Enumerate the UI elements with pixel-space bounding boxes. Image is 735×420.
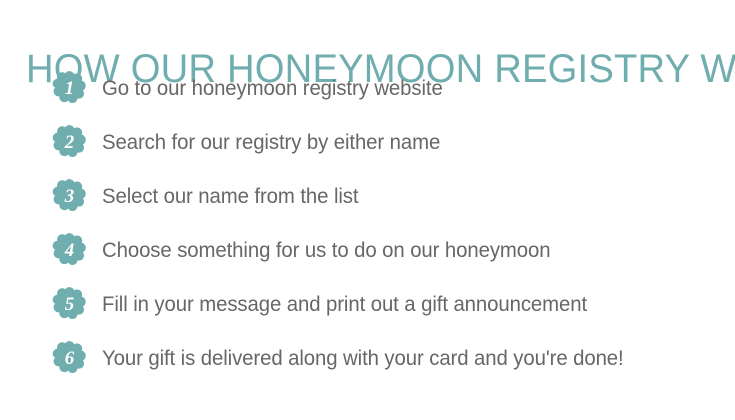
list-item: 2 Search for our registry by either name: [0, 116, 735, 170]
step-number: 1: [50, 70, 88, 108]
scalloped-flower-badge-icon: 3: [50, 178, 88, 216]
scalloped-flower-badge-icon: 6: [50, 340, 88, 378]
step-number: 3: [50, 178, 88, 216]
step-text: Go to our honeymoon registry website: [102, 76, 443, 102]
step-number: 5: [50, 286, 88, 324]
step-text: Fill in your message and print out a gif…: [102, 292, 587, 318]
step-text: Choose something for us to do on our hon…: [102, 238, 551, 264]
list-item: 1 Go to our honeymoon registry website: [0, 62, 735, 116]
step-text: Your gift is delivered along with your c…: [102, 346, 624, 372]
list-item: 4 Choose something for us to do on our h…: [0, 224, 735, 278]
step-number: 6: [50, 340, 88, 378]
step-text: Search for our registry by either name: [102, 130, 440, 156]
scalloped-flower-badge-icon: 5: [50, 286, 88, 324]
scalloped-flower-badge-icon: 1: [50, 70, 88, 108]
scalloped-flower-badge-icon: 2: [50, 124, 88, 162]
honeymoon-registry-infographic: HOW OUR HONEYMOON REGISTRY WORKS 1 Go to…: [0, 0, 735, 420]
list-item: 3 Select our name from the list: [0, 170, 735, 224]
step-number: 4: [50, 232, 88, 270]
list-item: 6 Your gift is delivered along with your…: [0, 332, 735, 386]
scalloped-flower-badge-icon: 4: [50, 232, 88, 270]
step-text: Select our name from the list: [102, 184, 358, 210]
list-item: 5 Fill in your message and print out a g…: [0, 278, 735, 332]
steps-list: 1 Go to our honeymoon registry website 2…: [0, 62, 735, 386]
step-number: 2: [50, 124, 88, 162]
